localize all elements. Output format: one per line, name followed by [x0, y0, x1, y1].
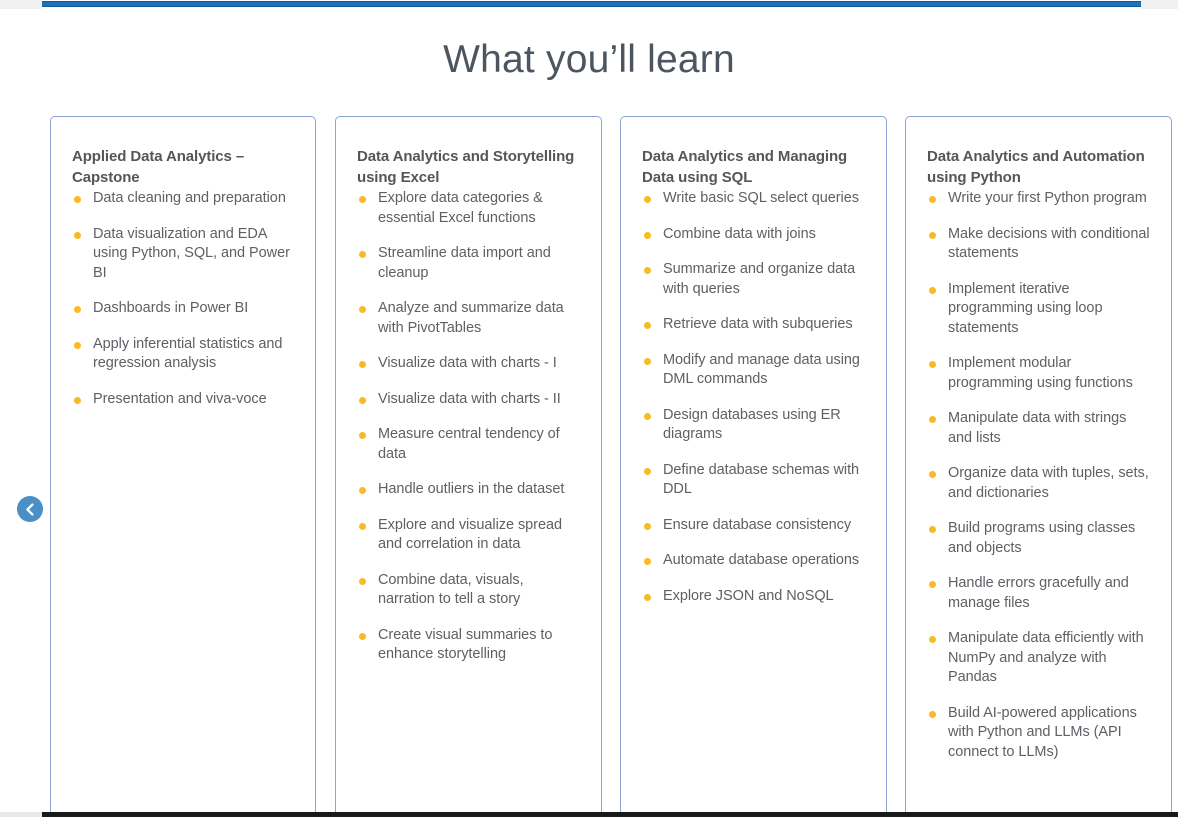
- list-item-label: Implement iterative programming using lo…: [948, 281, 1102, 336]
- card-outcome-list: Data cleaning and preparation Data visua…: [72, 189, 297, 409]
- list-item: Apply inferential statistics and regress…: [72, 335, 297, 374]
- bullet-icon: [359, 196, 366, 203]
- bullet-icon: [644, 358, 651, 365]
- course-card-applied-data-analytics-capstone[interactable]: Applied Data Analytics – Capstone Data c…: [50, 116, 316, 816]
- bullet-icon: [359, 397, 366, 404]
- list-item-label: Apply inferential statistics and regress…: [93, 336, 282, 372]
- list-item: Modify and manage data using DML command…: [642, 351, 868, 390]
- bullet-icon: [644, 558, 651, 565]
- bullet-icon: [929, 526, 936, 533]
- page-root: What you’ll learn Applied Data Analytics…: [0, 0, 1178, 817]
- bullet-icon: [359, 487, 366, 494]
- bullet-icon: [644, 523, 651, 530]
- card-title: Data Analytics and Storytelling using Ex…: [357, 147, 583, 188]
- bullet-icon: [929, 581, 936, 588]
- list-item: Dashboards in Power BI: [72, 299, 297, 319]
- list-item-label: Data visualization and EDA using Python,…: [93, 226, 290, 281]
- list-item: Presentation and viva-voce: [72, 390, 297, 410]
- list-item: Implement iterative programming using lo…: [927, 280, 1153, 339]
- horizontal-scrollbar[interactable]: [42, 812, 1178, 817]
- browser-chrome-left: [0, 0, 42, 9]
- list-item-label: Implement modular programming using func…: [948, 355, 1133, 391]
- list-item-label: Manipulate data with strings and lists: [948, 410, 1126, 446]
- list-item: Visualize data with charts - II: [357, 390, 583, 410]
- list-item: Automate database operations: [642, 551, 868, 571]
- list-item-label: Explore JSON and NoSQL: [663, 588, 834, 604]
- list-item-label: Streamline data import and cleanup: [378, 245, 551, 281]
- list-item-label: Modify and manage data using DML command…: [663, 352, 860, 388]
- list-item-label: Dashboards in Power BI: [93, 300, 248, 316]
- list-item-label: Presentation and viva-voce: [93, 391, 267, 407]
- carousel-prev-button[interactable]: [17, 496, 43, 522]
- list-item: Implement modular programming using func…: [927, 354, 1153, 393]
- list-item: Summarize and organize data with queries: [642, 260, 868, 299]
- bullet-icon: [74, 306, 81, 313]
- card-title: Data Analytics and Automation using Pyth…: [927, 147, 1153, 188]
- list-item-label: Explore and visualize spread and correla…: [378, 517, 562, 553]
- list-item: Write basic SQL select queries: [642, 189, 868, 209]
- bullet-icon: [929, 416, 936, 423]
- list-item-label: Make decisions with conditional statemen…: [948, 226, 1150, 262]
- bullet-icon: [929, 287, 936, 294]
- list-item-label: Handle outliers in the dataset: [378, 481, 564, 497]
- card-title: Data Analytics and Managing Data using S…: [642, 147, 868, 188]
- list-item: Data visualization and EDA using Python,…: [72, 225, 297, 284]
- list-item-label: Data cleaning and preparation: [93, 190, 286, 206]
- list-item-label: Design databases using ER diagrams: [663, 407, 841, 443]
- list-item-label: Ensure database consistency: [663, 517, 851, 533]
- bullet-icon: [74, 232, 81, 239]
- course-card-deck: Applied Data Analytics – Capstone Data c…: [0, 116, 1178, 816]
- list-item-label: Retrieve data with subqueries: [663, 316, 853, 332]
- card-title: Applied Data Analytics – Capstone: [72, 147, 297, 188]
- browser-chrome-right: [1141, 0, 1178, 9]
- list-item: Explore JSON and NoSQL: [642, 587, 868, 607]
- list-item: Visualize data with charts - I: [357, 354, 583, 374]
- bullet-icon: [644, 196, 651, 203]
- card-outcome-list: Write your first Python program Make dec…: [927, 189, 1153, 762]
- bullet-icon: [929, 361, 936, 368]
- list-item: Define database schemas with DDL: [642, 461, 868, 500]
- bullet-icon: [644, 232, 651, 239]
- bullet-icon: [644, 413, 651, 420]
- list-item-label: Analyze and summarize data with PivotTab…: [378, 300, 564, 336]
- list-item: Explore and visualize spread and correla…: [357, 516, 583, 555]
- list-item: Explore data categories & essential Exce…: [357, 189, 583, 228]
- list-item: Combine data with joins: [642, 225, 868, 245]
- bullet-icon: [929, 636, 936, 643]
- course-card-managing-data-using-sql[interactable]: Data Analytics and Managing Data using S…: [620, 116, 887, 816]
- bullet-icon: [644, 594, 651, 601]
- bullet-icon: [74, 196, 81, 203]
- list-item: Handle outliers in the dataset: [357, 480, 583, 500]
- bullet-icon: [359, 523, 366, 530]
- list-item: Analyze and summarize data with PivotTab…: [357, 299, 583, 338]
- chevron-left-icon: [24, 503, 37, 516]
- list-item: Combine data, visuals, narration to tell…: [357, 571, 583, 610]
- course-card-automation-using-python[interactable]: Data Analytics and Automation using Pyth…: [905, 116, 1172, 816]
- list-item-label: Write your first Python program: [948, 190, 1147, 206]
- list-item-label: Combine data with joins: [663, 226, 816, 242]
- list-item: Retrieve data with subqueries: [642, 315, 868, 335]
- top-accent-bar: [42, 1, 1141, 7]
- bullet-icon: [359, 578, 366, 585]
- list-item-label: Build AI-powered applications with Pytho…: [948, 705, 1137, 760]
- bottom-chrome-gap: [0, 812, 42, 817]
- bullet-icon: [929, 471, 936, 478]
- page-title: What you’ll learn: [0, 34, 1178, 86]
- bullet-icon: [74, 397, 81, 404]
- bullet-icon: [359, 432, 366, 439]
- list-item-label: Manipulate data efficiently with NumPy a…: [948, 630, 1144, 685]
- bullet-icon: [644, 468, 651, 475]
- list-item-label: Visualize data with charts - II: [378, 391, 561, 407]
- list-item: Data cleaning and preparation: [72, 189, 297, 209]
- list-item-label: Measure central tendency of data: [378, 426, 560, 462]
- list-item: Manipulate data with strings and lists: [927, 409, 1153, 448]
- bullet-icon: [644, 322, 651, 329]
- list-item: Ensure database consistency: [642, 516, 868, 536]
- list-item-label: Build programs using classes and objects: [948, 520, 1135, 556]
- list-item-label: Visualize data with charts - I: [378, 355, 557, 371]
- bullet-icon: [359, 633, 366, 640]
- bullet-icon: [929, 711, 936, 718]
- list-item-label: Handle errors gracefully and manage file…: [948, 575, 1129, 611]
- bullet-icon: [359, 251, 366, 258]
- list-item: Organize data with tuples, sets, and dic…: [927, 464, 1153, 503]
- list-item-label: Combine data, visuals, narration to tell…: [378, 572, 524, 608]
- list-item-label: Summarize and organize data with queries: [663, 261, 855, 297]
- list-item: Write your first Python program: [927, 189, 1153, 209]
- list-item-label: Write basic SQL select queries: [663, 190, 859, 206]
- bullet-icon: [359, 306, 366, 313]
- bullet-icon: [359, 361, 366, 368]
- bullet-icon: [644, 267, 651, 274]
- bullet-icon: [74, 342, 81, 349]
- list-item: Build programs using classes and objects: [927, 519, 1153, 558]
- course-card-storytelling-using-excel[interactable]: Data Analytics and Storytelling using Ex…: [335, 116, 602, 816]
- list-item: Build AI-powered applications with Pytho…: [927, 704, 1153, 763]
- list-item-label: Organize data with tuples, sets, and dic…: [948, 465, 1149, 501]
- list-item-label: Create visual summaries to enhance story…: [378, 627, 552, 663]
- bullet-icon: [929, 232, 936, 239]
- card-outcome-list: Write basic SQL select queries Combine d…: [642, 189, 868, 606]
- list-item: Measure central tendency of data: [357, 425, 583, 464]
- bullet-icon: [929, 196, 936, 203]
- list-item: Streamline data import and cleanup: [357, 244, 583, 283]
- list-item: Design databases using ER diagrams: [642, 406, 868, 445]
- list-item: Create visual summaries to enhance story…: [357, 626, 583, 665]
- list-item-label: Define database schemas with DDL: [663, 462, 859, 498]
- list-item-label: Automate database operations: [663, 552, 859, 568]
- list-item: Manipulate data efficiently with NumPy a…: [927, 629, 1153, 688]
- card-outcome-list: Explore data categories & essential Exce…: [357, 189, 583, 665]
- list-item: Handle errors gracefully and manage file…: [927, 574, 1153, 613]
- list-item: Make decisions with conditional statemen…: [927, 225, 1153, 264]
- list-item-label: Explore data categories & essential Exce…: [378, 190, 543, 226]
